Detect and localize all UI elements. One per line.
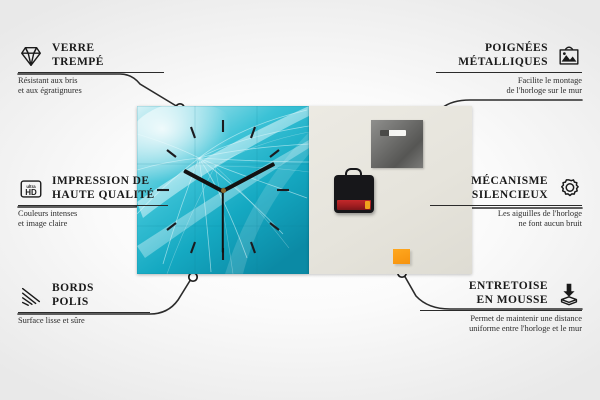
feature-title: BORDS POLIS (52, 282, 94, 309)
diamond-icon (18, 43, 44, 69)
feature-entretoise-en-mousse: ENTRETOISE EN MOUSSE Permet de maintenir… (420, 280, 582, 334)
gear-icon (556, 176, 582, 202)
second-hand (222, 191, 224, 253)
infographic-canvas: VERRE TREMPÉ Résistant aux bris et aux é… (0, 0, 600, 400)
feature-subtitle: Permet de maintenir une distance uniform… (420, 314, 582, 334)
feature-rule (18, 205, 168, 206)
center-pin (221, 188, 226, 193)
feature-bords-polis: BORDS POLIS Surface lisse et sûre (18, 282, 150, 326)
feature-poignees-metalliques: POIGNÉES MÉTALLIQUES Facilite le montage… (436, 42, 582, 96)
feature-title: IMPRESSION DE HAUTE QUALITÉ (52, 175, 155, 202)
feature-rule (430, 205, 582, 206)
feature-verre-trempe: VERRE TREMPÉ Résistant aux bris et aux é… (18, 42, 164, 96)
feature-subtitle: Résistant aux bris et aux égratignures (18, 76, 164, 96)
feature-impression-haute-qualite: ultra HD IMPRESSION DE HAUTE QUALITÉ Cou… (18, 175, 168, 229)
anchor-dot-bords-polis (189, 273, 197, 281)
feature-rule (18, 312, 150, 313)
feature-subtitle: Les aiguilles de l'horloge ne font aucun… (430, 209, 582, 229)
aa-battery (337, 200, 371, 210)
foam-spacer-pad (393, 249, 410, 264)
ultra-hd-icon: ultra HD (18, 176, 44, 202)
quartz-mechanism (334, 175, 374, 213)
feature-rule (436, 72, 582, 73)
mechanism-hook (345, 168, 362, 178)
feature-subtitle: Couleurs intenses et image claire (18, 209, 168, 229)
feature-rule (420, 310, 582, 311)
hanger-slot (380, 130, 406, 136)
wall-mount-frame-icon (556, 43, 582, 69)
feature-title: POIGNÉES MÉTALLIQUES (458, 42, 548, 69)
foam-spacer-icon (556, 281, 582, 307)
feature-rule (18, 72, 164, 73)
feature-title: VERRE TREMPÉ (52, 42, 104, 69)
feature-subtitle: Surface lisse et sûre (18, 316, 150, 326)
feature-title: ENTRETOISE EN MOUSSE (469, 280, 548, 307)
polished-edges-icon (18, 283, 44, 309)
battery-positive-tip (365, 201, 370, 209)
hd-label: HD (25, 187, 37, 196)
feature-title: MÉCANISME SILENCIEUX (471, 175, 548, 202)
metal-hanger-plate (371, 120, 423, 168)
feature-mecanisme-silencieux: MÉCANISME SILENCIEUX Les aiguilles de l'… (430, 175, 582, 229)
feature-subtitle: Facilite le montage de l'horloge sur le … (436, 76, 582, 96)
